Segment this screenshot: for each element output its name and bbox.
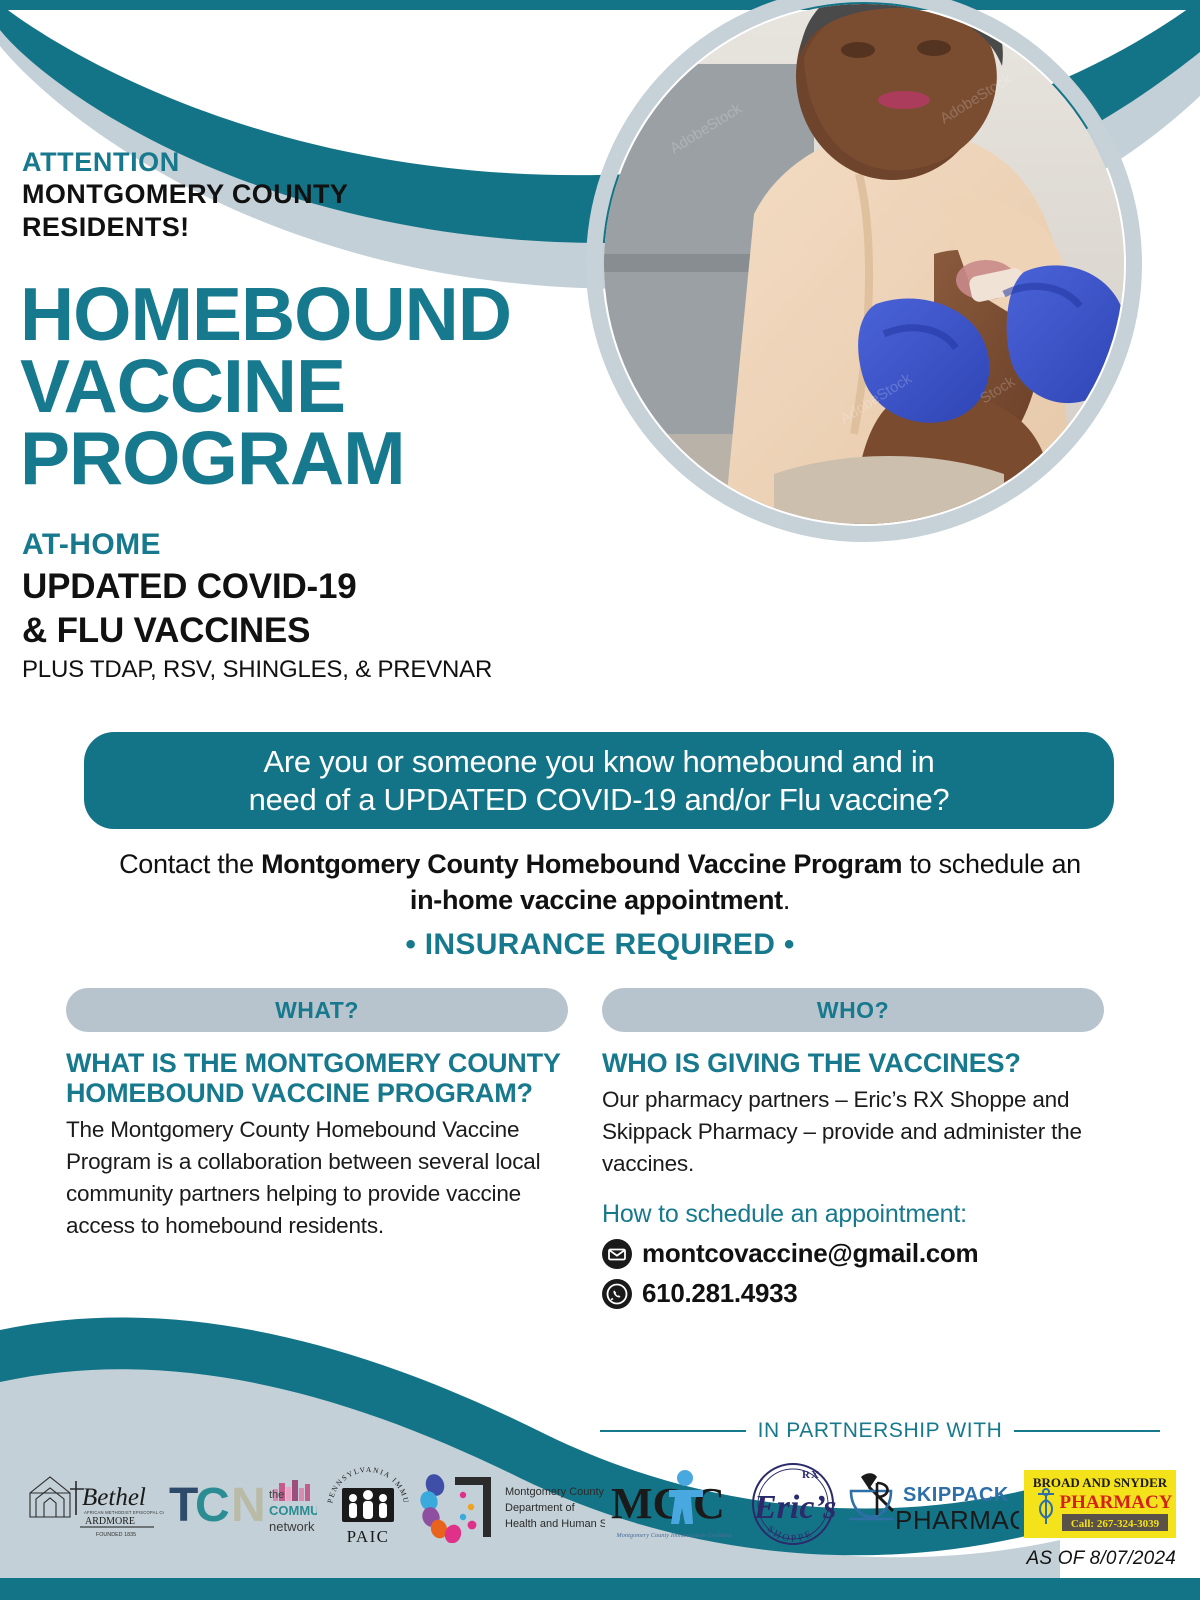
montco-hhs-line1: Montgomery County <box>505 1486 605 1498</box>
audience-line-2: RESIDENTS! <box>22 212 348 243</box>
the-community-network-tcn-logo: T C N the COMMUNITY network <box>169 1454 317 1554</box>
column-what: WHAT? WHAT IS THE MONTGOMERY COUNTY HOME… <box>66 988 568 1242</box>
tcn-line1: the <box>269 1489 284 1501</box>
mcic-caption: Montgomery County Immunization Coalition <box>616 1532 732 1539</box>
contact-part-1: Contact the <box>119 849 261 879</box>
montco-hhs-logo-icon: Montgomery County Department of Health a… <box>419 1465 605 1543</box>
skippack-pharmacy-logo-icon: SKIPPACK PHARMACY <box>847 1469 1019 1539</box>
column-who: WHO? WHO IS GIVING THE VACCINES? Our pha… <box>602 988 1104 1309</box>
contact-part-2: to schedule an <box>902 849 1081 879</box>
pill-who: WHO? <box>602 988 1104 1032</box>
broad-and-snyder-pharmacy-logo-icon: BROAD AND SNYDER PHARMACY Call: 267-324-… <box>1024 1470 1176 1538</box>
skippack-pharmacy-logo: SKIPPACK PHARMACY <box>847 1454 1019 1554</box>
svg-text:C: C <box>693 1479 725 1528</box>
page-title: HOMEBOUND VACCINE PROGRAM <box>20 278 511 494</box>
montco-hhs-line3: Health and Human Services <box>505 1518 605 1530</box>
bethel-logo-icon: Bethel AFRICAN METHODIST EPISCOPAL CHURC… <box>24 1467 164 1541</box>
partnership-rule-left <box>600 1430 746 1432</box>
attention-label: ATTENTION <box>22 148 348 177</box>
paic-pennsylvania-immunization-coalition-logo: PENNSYLVANIA IMMUNIZATION COALITION PAIC <box>322 1454 414 1554</box>
paic-acronym: PAIC <box>346 1527 389 1546</box>
phone-contact-line[interactable]: 610.281.4933 <box>602 1278 1104 1309</box>
svg-text:C: C <box>195 1479 230 1532</box>
bethel-line3: ARDMORE <box>85 1516 135 1527</box>
flyer-poster: AdobeStock AdobeStock AdobeStock Stock A… <box>0 0 1200 1600</box>
subhead-line-3: PLUS TDAP, RSV, SHINGLES, & PREVNAR <box>22 656 492 684</box>
title-line-2: VACCINE <box>20 350 511 422</box>
contact-bold-2: in-home vaccine appointment <box>410 885 783 915</box>
bottom-accent-bar <box>0 1578 1200 1600</box>
tcn-logo-icon: T C N the COMMUNITY network <box>169 1471 317 1537</box>
bethel-line4: FOUNDED 1835 <box>96 1532 136 1538</box>
contact-paragraph: Contact the Montgomery County Homebound … <box>100 846 1100 918</box>
what-body: The Montgomery County Homebound Vaccine … <box>66 1114 568 1242</box>
bas-line2: PHARMACY <box>1059 1492 1172 1513</box>
hero-photo: AdobeStock AdobeStock AdobeStock Stock <box>604 4 1124 524</box>
bethel-line2: AFRICAN METHODIST EPISCOPAL CHURCH <box>84 1510 164 1515</box>
svg-text:N: N <box>231 1479 266 1532</box>
envelope-icon <box>602 1239 632 1269</box>
senior-woman-receiving-vaccine-photo: AdobeStock AdobeStock AdobeStock Stock <box>604 4 1124 524</box>
subhead-eyebrow: AT-HOME <box>22 528 492 562</box>
svg-text:Bethel: Bethel <box>82 1484 146 1511</box>
erics-top: RX <box>802 1469 820 1481</box>
bas-line3: Call: 267-324-3039 <box>1071 1518 1160 1530</box>
erics-rx-shoppe-logo-icon: RX Eric’s SHOPPE <box>744 1456 842 1552</box>
who-body: Our pharmacy partners – Eric’s RX Shoppe… <box>602 1084 1104 1180</box>
mcic-montgomery-county-immunization-coalition-logo: MC C Montgomery County Immunization Coal… <box>609 1454 739 1554</box>
as-of-date: AS OF 8/07/2024 <box>1027 1548 1176 1570</box>
phone-number: 610.281.4933 <box>642 1278 797 1309</box>
bas-line1: BROAD AND SNYDER <box>1033 1475 1168 1490</box>
tcn-line2: COMMUNITY <box>269 1503 317 1518</box>
callout-banner: Are you or someone you know homebound an… <box>84 732 1114 829</box>
attention-block: ATTENTION MONTGOMERY COUNTY RESIDENTS! <box>22 148 348 244</box>
audience-line-1: MONTGOMERY COUNTY <box>22 179 348 210</box>
svg-text:T: T <box>169 1479 198 1532</box>
bethel-ame-church-ardmore-logo: Bethel AFRICAN METHODIST EPISCOPAL CHURC… <box>24 1454 164 1554</box>
subhead-line-1: UPDATED COVID-19 <box>22 567 492 606</box>
skippack-line1: SKIPPACK <box>903 1484 1009 1506</box>
title-line-1: HOMEBOUND <box>20 278 511 350</box>
partnership-bar: IN PARTNERSHIP WITH <box>600 1418 1160 1444</box>
tcn-line3: network <box>269 1519 315 1534</box>
pill-what: WHAT? <box>66 988 568 1032</box>
partner-logo-row: Bethel AFRICAN METHODIST EPISCOPAL CHURC… <box>24 1452 1176 1556</box>
whatsapp-phone-icon <box>602 1279 632 1309</box>
skippack-line2: PHARMACY <box>895 1505 1019 1535</box>
paic-logo-icon: PENNSYLVANIA IMMUNIZATION COALITION PAIC <box>322 1458 414 1550</box>
mcic-logo-icon: MC C Montgomery County Immunization Coal… <box>609 1466 739 1542</box>
email-address: montcovaccine@gmail.com <box>642 1238 978 1269</box>
subhead-block: AT-HOME UPDATED COVID-19 & FLU VACCINES … <box>22 528 492 684</box>
contact-bold-1: Montgomery County Homebound Vaccine Prog… <box>261 849 902 879</box>
photo-circle: AdobeStock AdobeStock AdobeStock Stock <box>604 4 1124 524</box>
callout-line-1: Are you or someone you know homebound an… <box>249 743 950 781</box>
erics-rx-shoppe-logo: RX Eric’s SHOPPE <box>744 1454 842 1554</box>
email-contact-line[interactable]: montcovaccine@gmail.com <box>602 1238 1104 1269</box>
broad-and-snyder-pharmacy-logo: BROAD AND SNYDER PHARMACY Call: 267-324-… <box>1024 1454 1176 1554</box>
montgomery-county-health-human-services-logo: Montgomery County Department of Health a… <box>419 1454 605 1554</box>
who-heading: WHO IS GIVING THE VACCINES? <box>602 1048 1104 1078</box>
insurance-required-note: • INSURANCE REQUIRED • <box>100 928 1100 962</box>
title-line-3: PROGRAM <box>20 422 511 494</box>
partnership-label: IN PARTNERSHIP WITH <box>758 1419 1003 1443</box>
subhead-line-2: & FLU VACCINES <box>22 611 492 650</box>
callout-line-2: need of a UPDATED COVID-19 and/or Flu va… <box>249 781 950 819</box>
partnership-rule-right <box>1014 1430 1160 1432</box>
contact-part-3: . <box>783 885 790 915</box>
what-heading: WHAT IS THE MONTGOMERY COUNTY HOMEBOUND … <box>66 1048 568 1108</box>
montco-hhs-line2: Department of <box>505 1502 576 1514</box>
schedule-label: How to schedule an appointment: <box>602 1200 1104 1229</box>
erics-main: Eric’s <box>753 1489 836 1526</box>
